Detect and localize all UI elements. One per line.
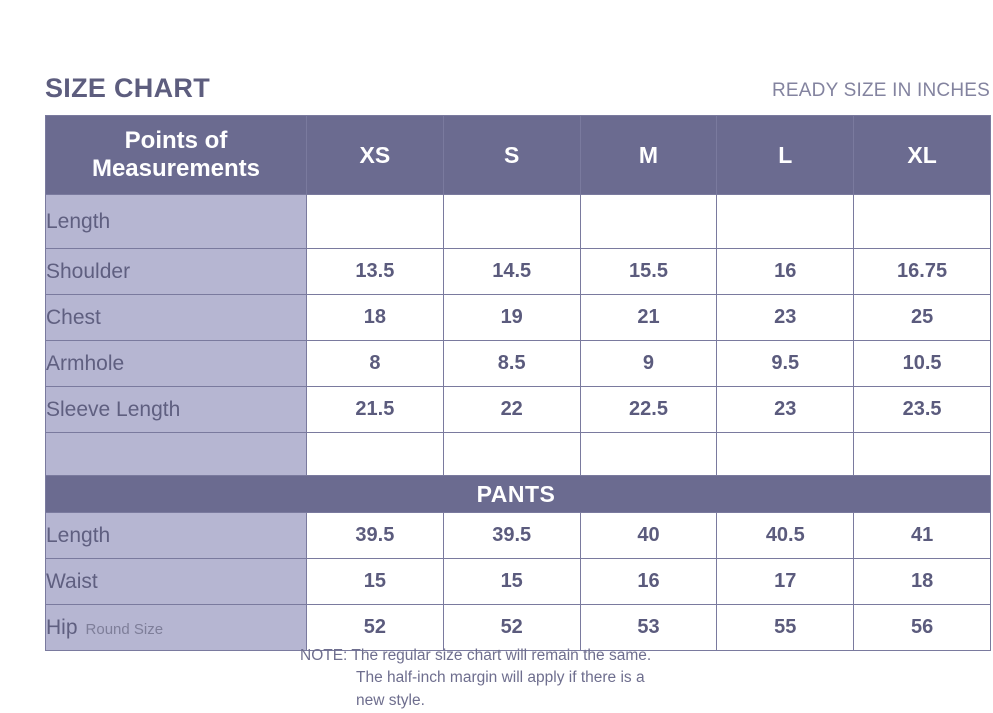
- cell-shoulder-xs: 13.5: [307, 249, 444, 295]
- cell-hip-l: 55: [717, 605, 854, 651]
- cell-length-xl: [854, 195, 991, 249]
- column-header-m: M: [580, 116, 717, 195]
- cell-shoulder-s: 14.5: [443, 249, 580, 295]
- cell-armhole-s: 8.5: [443, 341, 580, 387]
- cell-armhole-m: 9: [580, 341, 717, 387]
- cell-chest-xs: 18: [307, 295, 444, 341]
- row-label-hip-text: Hip: [46, 616, 78, 639]
- size-chart-page: SIZE CHART READY SIZE IN INCHES Points o…: [0, 0, 993, 713]
- cell-waist-s: 15: [443, 559, 580, 605]
- cell-armhole-xl: 10.5: [854, 341, 991, 387]
- cell-sleeve-length-s: 22: [443, 387, 580, 433]
- cell-spacer-m: [580, 433, 717, 476]
- unit-label: READY SIZE IN INCHES: [772, 81, 990, 102]
- page-title: SIZE CHART: [45, 75, 210, 102]
- row-label-spacer: [46, 433, 307, 476]
- note-line-2: The half-inch margin will apply if there…: [300, 667, 820, 689]
- cell-armhole-xs: 8: [307, 341, 444, 387]
- cell-sleeve-length-xs: 21.5: [307, 387, 444, 433]
- chart-header-bar: SIZE CHART READY SIZE IN INCHES: [45, 60, 990, 102]
- note-line-3: new style.: [300, 690, 820, 712]
- cell-sleeve-length-m: 22.5: [580, 387, 717, 433]
- table-row: Sleeve Length 21.5 22 22.5 23 23.5: [46, 387, 991, 433]
- table-body: Length Shoulder 13.5 14.5 15.5 16 16.75 …: [46, 195, 991, 651]
- row-label-armhole: Armhole: [46, 341, 307, 387]
- table-row: Shoulder 13.5 14.5 15.5 16 16.75: [46, 249, 991, 295]
- cell-chest-s: 19: [443, 295, 580, 341]
- section-divider-row: PANTS: [46, 476, 991, 513]
- cell-hip-s: 52: [443, 605, 580, 651]
- table-row-spacer: [46, 433, 991, 476]
- row-label-waist: Waist: [46, 559, 307, 605]
- table-row: HipRound Size 52 52 53 55 56: [46, 605, 991, 651]
- cell-hip-m: 53: [580, 605, 717, 651]
- column-header-s: S: [443, 116, 580, 195]
- row-label-sleeve-length: Sleeve Length: [46, 387, 307, 433]
- column-header-l: L: [717, 116, 854, 195]
- table-row: Waist 15 15 16 17 18: [46, 559, 991, 605]
- cell-pants-length-m: 40: [580, 513, 717, 559]
- cell-waist-l: 17: [717, 559, 854, 605]
- row-label-hip: HipRound Size: [46, 605, 307, 651]
- column-header-xs: XS: [307, 116, 444, 195]
- cell-armhole-l: 9.5: [717, 341, 854, 387]
- cell-spacer-xs: [307, 433, 444, 476]
- note-line-1: NOTE: The regular size chart will remain…: [300, 645, 820, 667]
- row-label-shoulder: Shoulder: [46, 249, 307, 295]
- section-header-pants: PANTS: [46, 476, 991, 513]
- cell-spacer-xl: [854, 433, 991, 476]
- cell-waist-m: 16: [580, 559, 717, 605]
- table-header-row: Points of Measurements XS S M L XL: [46, 116, 991, 195]
- cell-sleeve-length-xl: 23.5: [854, 387, 991, 433]
- cell-waist-xl: 18: [854, 559, 991, 605]
- cell-length-l: [717, 195, 854, 249]
- cell-shoulder-m: 15.5: [580, 249, 717, 295]
- cell-waist-xs: 15: [307, 559, 444, 605]
- cell-pants-length-xl: 41: [854, 513, 991, 559]
- chart-note: NOTE: The regular size chart will remain…: [300, 645, 820, 712]
- measurements-header-line2: Measurements: [92, 155, 260, 182]
- row-label-chest: Chest: [46, 295, 307, 341]
- table-row: Length 39.5 39.5 40 40.5 41: [46, 513, 991, 559]
- table-head: Points of Measurements XS S M L XL: [46, 116, 991, 195]
- cell-pants-length-s: 39.5: [443, 513, 580, 559]
- row-label-pants-length: Length: [46, 513, 307, 559]
- table-row: Armhole 8 8.5 9 9.5 10.5: [46, 341, 991, 387]
- cell-shoulder-l: 16: [717, 249, 854, 295]
- cell-hip-xs: 52: [307, 605, 444, 651]
- cell-shoulder-xl: 16.75: [854, 249, 991, 295]
- row-label-hip-note: Round Size: [78, 621, 164, 638]
- column-header-measurements: Points of Measurements: [46, 116, 307, 195]
- cell-pants-length-xs: 39.5: [307, 513, 444, 559]
- cell-chest-l: 23: [717, 295, 854, 341]
- cell-length-s: [443, 195, 580, 249]
- cell-length-m: [580, 195, 717, 249]
- size-chart-table: Points of Measurements XS S M L XL Lengt…: [45, 115, 991, 651]
- cell-pants-length-l: 40.5: [717, 513, 854, 559]
- section-header-pants-label: PANTS: [44, 481, 988, 508]
- cell-chest-xl: 25: [854, 295, 991, 341]
- cell-sleeve-length-l: 23: [717, 387, 854, 433]
- measurements-header-line1: Points of: [125, 127, 228, 154]
- cell-spacer-l: [717, 433, 854, 476]
- table-row: Chest 18 19 21 23 25: [46, 295, 991, 341]
- table-row: Length: [46, 195, 991, 249]
- cell-length-xs: [307, 195, 444, 249]
- cell-hip-xl: 56: [854, 605, 991, 651]
- row-label-length: Length: [46, 195, 307, 249]
- column-header-xl: XL: [854, 116, 991, 195]
- cell-spacer-s: [443, 433, 580, 476]
- cell-chest-m: 21: [580, 295, 717, 341]
